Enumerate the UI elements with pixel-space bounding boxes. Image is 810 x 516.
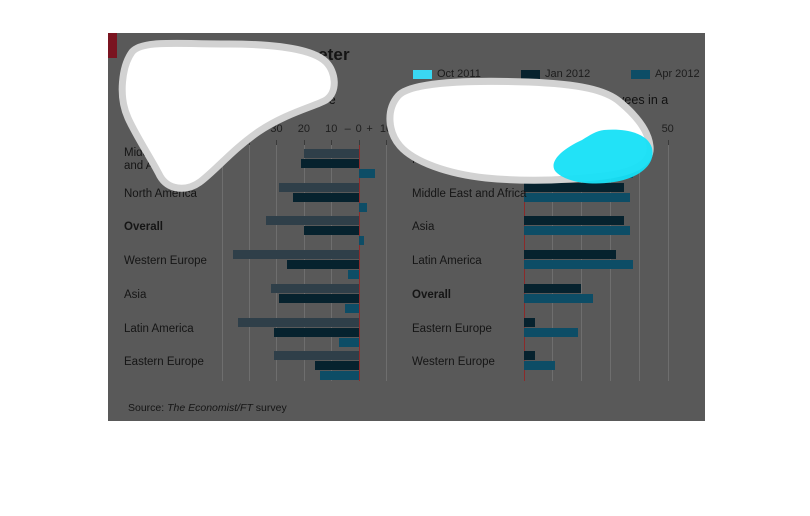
left-chart-units: percentage points	[128, 109, 403, 120]
bar-group	[120, 280, 405, 314]
bar-apr-2012	[524, 193, 631, 202]
category-label-eastern-europe: Eastern Europe	[124, 356, 204, 369]
category-label-asia: Asia	[124, 289, 146, 302]
page-title: Global business barometer	[128, 45, 350, 65]
source-note: Source: The Economist/FT survey	[128, 402, 287, 414]
bar-jan-2012	[304, 226, 359, 235]
bar-oct-2011	[304, 149, 359, 158]
bar-jan-2012	[524, 351, 536, 360]
left-chart-axis: 5040302010–0+10	[120, 123, 405, 141]
bar-oct-2011	[271, 284, 359, 293]
axis-tick-label: 20	[575, 123, 587, 135]
bar-oct-2011	[233, 250, 359, 259]
bar-apr-2012	[524, 260, 634, 269]
axis-tick-label: –	[345, 123, 351, 135]
bar-group	[408, 212, 693, 246]
axis-tick-label: 10	[325, 123, 337, 135]
legend-swatch-icon	[521, 70, 540, 79]
legend-item-jan-2012: Jan 2012	[521, 68, 590, 82]
bar-jan-2012	[293, 193, 359, 202]
category-label-western-europe: Western Europe	[412, 356, 495, 369]
axis-tick-label: 30	[270, 123, 282, 135]
legend-label: Oct 2011	[437, 68, 481, 80]
bar-jan-2012	[524, 284, 582, 293]
chart-global-business-conditions: 5040302010–0+10 Middle East and AfricaNo…	[120, 123, 405, 393]
source-suffix: survey	[253, 402, 287, 414]
bar-oct-2011	[274, 351, 359, 360]
bar-apr-2012	[524, 361, 556, 370]
bar-jan-2012	[301, 159, 359, 168]
axis-tick-label: 20	[298, 123, 310, 135]
category-label-middle-east-and-africa: Middle East and Africa	[412, 188, 526, 201]
axis-tick-label: 10	[546, 123, 558, 135]
legend: Oct 2011Jan 2012Apr 2012	[413, 68, 703, 84]
bar-apr-2012	[345, 304, 359, 313]
axis-tick-label: 0	[520, 123, 526, 135]
axis-tick-label: 30	[604, 123, 616, 135]
category-label-asia: Asia	[412, 221, 434, 234]
category-label-latin-america: Latin America	[124, 323, 194, 336]
bar-oct-2011	[524, 149, 593, 158]
chart-panel: Global business barometer Balance of res…	[108, 33, 705, 421]
right-chart-axis: 01020304050	[408, 123, 693, 141]
legend-label: Apr 2012	[655, 68, 700, 80]
category-label-overall: Overall	[124, 221, 163, 234]
axis-tick-label: 0	[356, 123, 362, 135]
economist-red-tab	[108, 33, 117, 58]
bar-jan-2012	[315, 361, 359, 370]
chart-more-employees: 01020304050 North AmericaMiddle East and…	[408, 123, 693, 393]
bar-apr-2012	[320, 371, 358, 380]
bar-apr-2012	[524, 169, 634, 178]
bar-oct-2011	[266, 216, 359, 225]
axis-tick-label: 50	[216, 123, 228, 135]
axis-tick-label: 10	[380, 123, 392, 135]
source-publication: The Economist/FT	[167, 402, 253, 414]
bar-jan-2012	[287, 260, 358, 269]
bar-apr-2012	[524, 226, 631, 235]
bar-jan-2012	[279, 294, 358, 303]
category-label-western-europe: Western Europe	[124, 255, 207, 268]
category-label-eastern-europe: Eastern Europe	[412, 323, 492, 336]
axis-tick-label: +	[366, 123, 372, 135]
axis-tick-label: 50	[662, 123, 674, 135]
right-chart-title: their companies to have more employees i…	[416, 93, 701, 121]
axis-tick-label: 40	[243, 123, 255, 135]
bar-apr-2012	[524, 328, 579, 337]
left-chart-title: global business conditions to improve	[128, 93, 403, 107]
bar-apr-2012	[359, 203, 367, 212]
category-label-north-america: North America	[412, 154, 485, 167]
category-label-overall: Overall	[412, 289, 451, 302]
bar-jan-2012	[274, 328, 359, 337]
axis-tick-label: 40	[633, 123, 645, 135]
legend-swatch-icon	[413, 70, 432, 79]
bar-apr-2012	[339, 338, 358, 347]
category-label-north-america: North America	[124, 188, 197, 201]
bar-jan-2012	[524, 250, 616, 259]
legend-item-oct-2011: Oct 2011	[413, 68, 481, 82]
category-label-middle-east-and-africa: Middle East and Africa	[124, 147, 184, 172]
source-prefix: Source:	[128, 402, 167, 414]
bar-oct-2011	[238, 318, 359, 327]
bar-apr-2012	[348, 270, 359, 279]
legend-swatch-icon	[631, 70, 650, 79]
bar-jan-2012	[524, 159, 634, 168]
bar-oct-2011	[279, 183, 358, 192]
category-label-latin-america: Latin America	[412, 255, 482, 268]
bar-apr-2012	[359, 236, 364, 245]
legend-item-apr-2012: Apr 2012	[631, 68, 700, 82]
bar-jan-2012	[524, 216, 625, 225]
left-chart-header: global business conditions to improve pe…	[128, 93, 403, 120]
screenshot-root: Global business barometer Balance of res…	[0, 0, 810, 516]
panel-subtitle: Balance of respondents expecting:	[128, 69, 312, 83]
bar-apr-2012	[359, 169, 375, 178]
legend-label: Jan 2012	[545, 68, 590, 80]
bar-apr-2012	[524, 294, 593, 303]
bar-jan-2012	[524, 318, 536, 327]
bar-jan-2012	[524, 183, 625, 192]
